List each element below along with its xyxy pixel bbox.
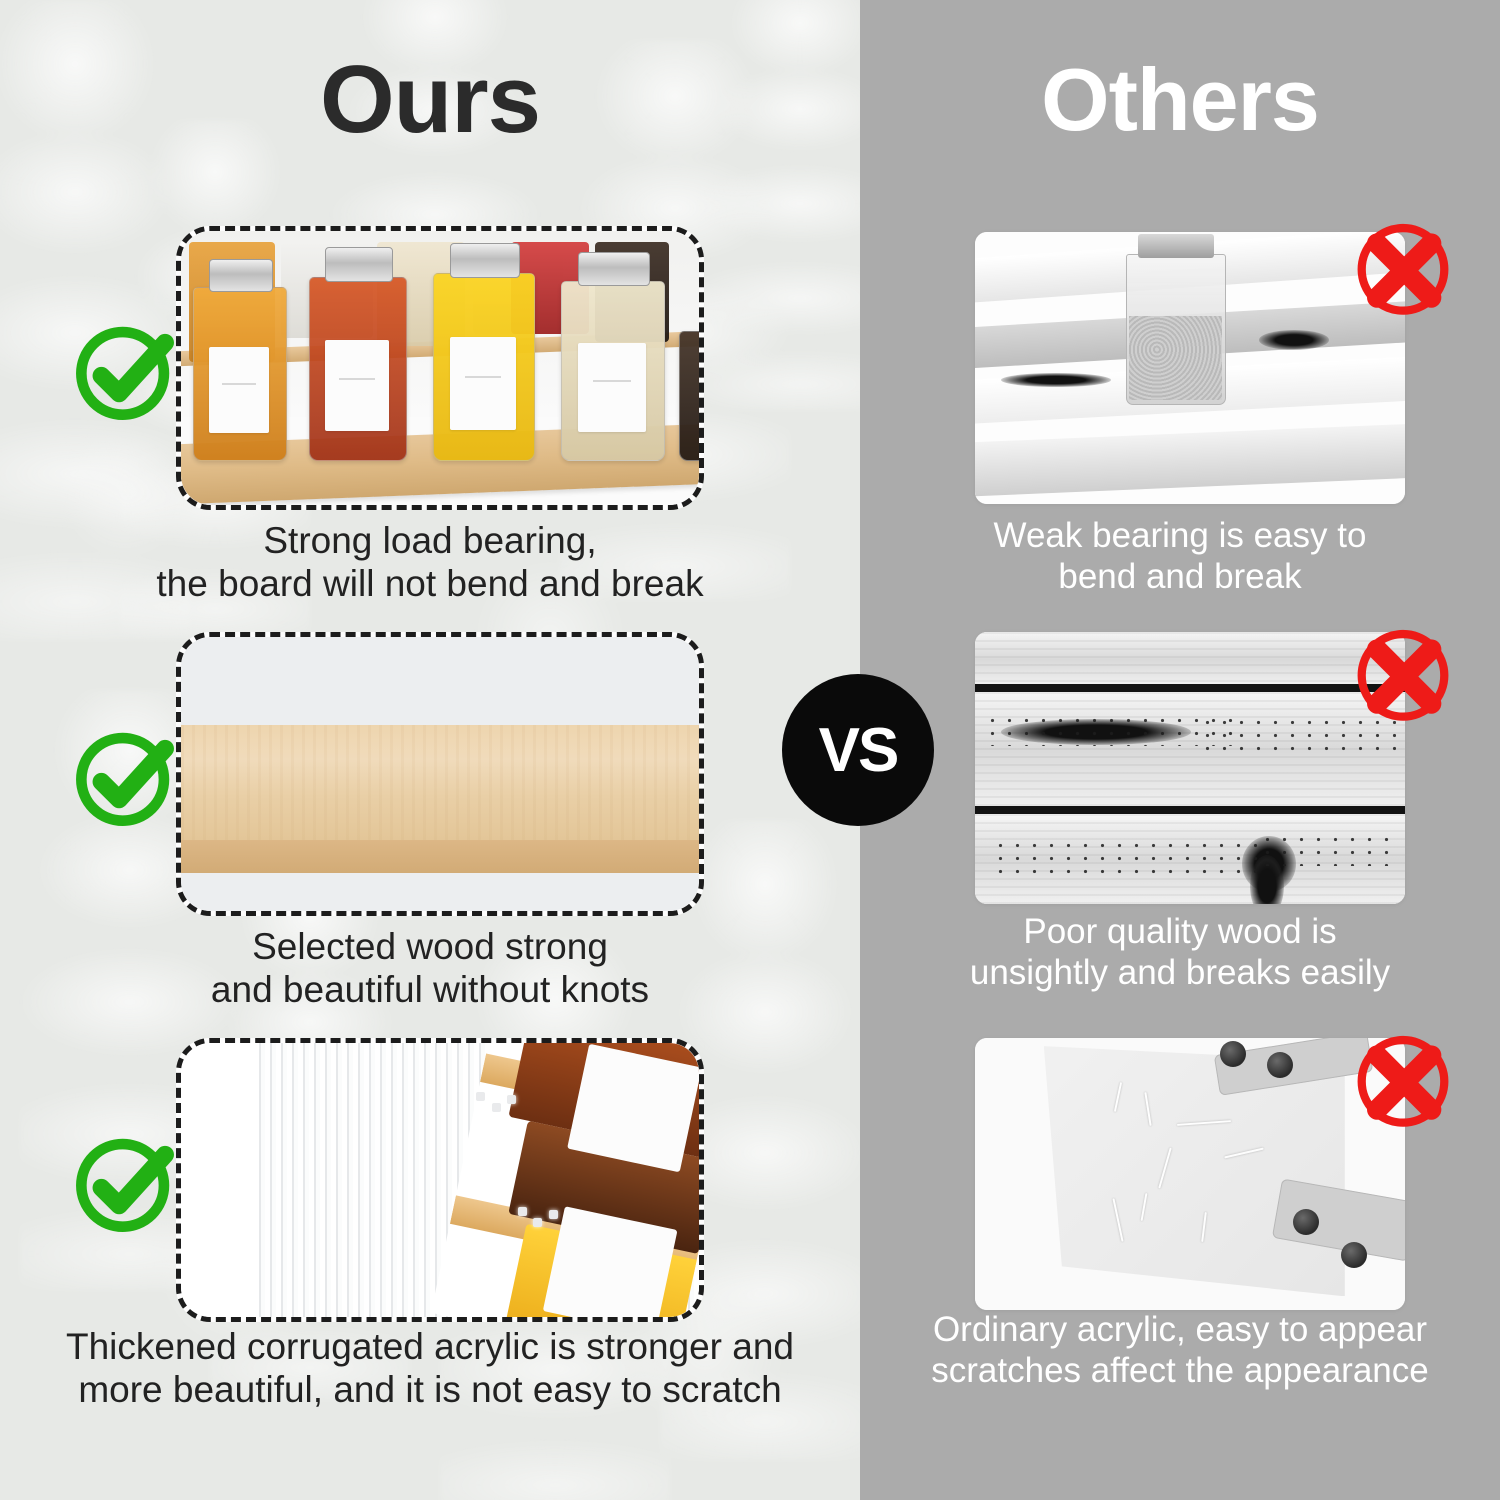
caption-line-2: more beautiful, and it is not easy to sc… — [30, 1369, 830, 1412]
caption-weak-bearing: Weak bearing is easy to bend and break — [860, 516, 1500, 597]
caption-corrugated-acrylic: Thickened corrugated acrylic is stronger… — [30, 1326, 830, 1412]
caption-poor-quality-wood: Poor quality wood is unsightly and break… — [860, 912, 1500, 993]
photo-frame-selected-wood — [176, 632, 704, 916]
caption-line-2: the board will not bend and break — [60, 563, 800, 606]
photo-frame-ordinary-acrylic — [975, 1038, 1405, 1310]
green-check-icon — [66, 312, 184, 430]
red-cross-icon — [1344, 1020, 1462, 1138]
caption-strong-load-bearing: Strong load bearing, the board will not … — [60, 520, 800, 606]
caption-line-2: bend and break — [860, 557, 1500, 598]
caption-line-1: Poor quality wood is — [860, 912, 1500, 953]
red-cross-icon — [1344, 208, 1462, 326]
caption-ordinary-acrylic: Ordinary acrylic, easy to appear scratch… — [860, 1310, 1500, 1391]
green-check-icon — [66, 718, 184, 836]
green-check-icon — [66, 1124, 184, 1242]
caption-line-1: Thickened corrugated acrylic is stronger… — [30, 1326, 830, 1369]
vs-badge: VS — [782, 674, 934, 826]
caption-line-1: Ordinary acrylic, easy to appear — [860, 1310, 1500, 1351]
comparison-infographic: Ours — [0, 0, 1500, 1500]
red-cross-icon — [1344, 614, 1462, 732]
caption-line-2: and beautiful without knots — [60, 969, 800, 1012]
photo-jar-on-bending-shelf — [975, 232, 1405, 504]
photo-knotty-cracked-wood — [975, 632, 1405, 904]
photo-frame-weak-bearing — [975, 232, 1405, 504]
vs-badge-label: VS — [819, 715, 898, 786]
photo-frame-poor-quality-wood — [975, 632, 1405, 904]
caption-line-1: Strong load bearing, — [60, 520, 800, 563]
photo-corrugated-acrylic-panel — [181, 1043, 699, 1317]
caption-line-1: Weak bearing is easy to — [860, 516, 1500, 557]
photo-clean-wood-board — [181, 637, 699, 911]
caption-line-2: unsightly and breaks easily — [860, 953, 1500, 994]
page-title-ours: Ours — [0, 52, 860, 148]
photo-frame-corrugated-acrylic — [176, 1038, 704, 1322]
caption-selected-wood: Selected wood strong and beautiful witho… — [60, 926, 800, 1012]
page-title-others: Others — [860, 56, 1500, 144]
photo-spice-jars-on-wooden-shelf — [181, 231, 699, 505]
photo-frame-strong-load-bearing — [176, 226, 704, 510]
photo-scratched-plain-acrylic — [975, 1038, 1405, 1310]
caption-line-2: scratches affect the appearance — [860, 1351, 1500, 1392]
caption-line-1: Selected wood strong — [60, 926, 800, 969]
